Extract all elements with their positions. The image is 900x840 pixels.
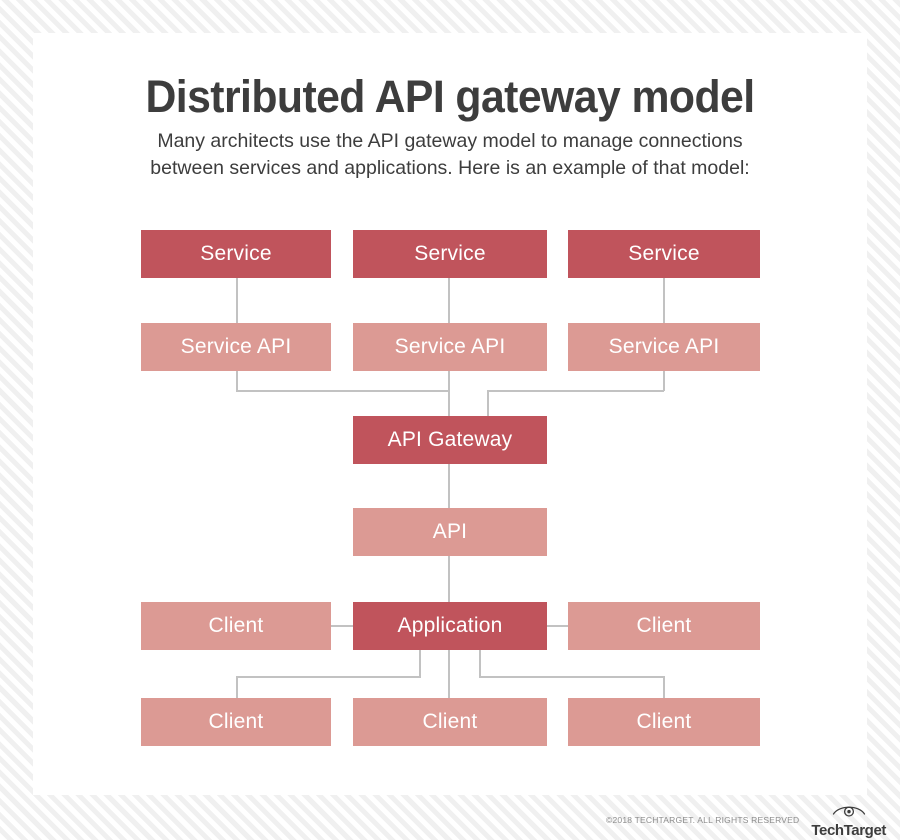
node-service-api-1[interactable]: Service API [141, 323, 331, 371]
connector-service-1-to-api [236, 278, 238, 323]
node-application[interactable]: Application [353, 602, 547, 650]
node-label: Service [414, 242, 485, 266]
node-label: Service [200, 242, 271, 266]
connector-api-left-drop [236, 371, 238, 391]
connector-application-to-client-left [331, 625, 353, 627]
node-service-2[interactable]: Service [353, 230, 547, 278]
connector-api-right-drop [663, 371, 665, 391]
node-label: Client [423, 710, 478, 734]
connector-bottom-right-run [479, 676, 664, 678]
node-api[interactable]: API [353, 508, 547, 556]
node-label: Service API [395, 335, 506, 359]
connector-bottom-left-stub [419, 650, 421, 677]
node-label: API Gateway [388, 428, 513, 452]
connector-bottom-right-stub [479, 650, 481, 677]
node-service-3[interactable]: Service [568, 230, 760, 278]
connector-bottom-right-drop [663, 676, 665, 698]
footer: ©2018 TECHTARGET. ALL RIGHTS RESERVED Te… [0, 800, 900, 840]
node-client-right[interactable]: Client [568, 602, 760, 650]
node-client-bottom-3[interactable]: Client [568, 698, 760, 746]
node-service-api-3[interactable]: Service API [568, 323, 760, 371]
logo-wordmark: TechTarget [811, 823, 886, 838]
node-label: Service API [181, 335, 292, 359]
connector-bottom-left-drop [236, 676, 238, 698]
techtarget-logo: TechTarget [811, 803, 886, 838]
node-label: Client [209, 710, 264, 734]
node-label: API [433, 520, 467, 544]
connector-api-right-run [487, 390, 664, 392]
connector-api-to-application [448, 556, 450, 602]
connector-gateway-to-api [448, 463, 450, 508]
content-card: Distributed API gateway model Many archi… [33, 33, 867, 795]
connector-api-left-run [236, 390, 449, 392]
node-label: Service [628, 242, 699, 266]
node-label: Client [637, 614, 692, 638]
connector-bracket-left-into-gateway [448, 390, 450, 416]
copyright-text: ©2018 TECHTARGET. ALL RIGHTS RESERVED [606, 815, 799, 825]
node-client-left[interactable]: Client [141, 602, 331, 650]
eye-icon [832, 803, 866, 822]
node-client-bottom-2[interactable]: Client [353, 698, 547, 746]
connector-api-right-into-gateway [487, 390, 489, 416]
connector-service-2-to-api [448, 278, 450, 323]
connector-service-3-to-api [663, 278, 665, 323]
api-gateway-diagram: Service Service Service Service API Serv… [33, 33, 867, 795]
node-service-api-2[interactable]: Service API [353, 323, 547, 371]
node-service-1[interactable]: Service [141, 230, 331, 278]
node-api-gateway[interactable]: API Gateway [353, 416, 547, 464]
node-label: Service API [609, 335, 720, 359]
node-label: Application [398, 614, 503, 638]
node-client-bottom-1[interactable]: Client [141, 698, 331, 746]
connector-bottom-left-run [236, 676, 421, 678]
connector-application-to-client-center [448, 650, 450, 698]
node-label: Client [209, 614, 264, 638]
connector-application-to-client-right [547, 625, 569, 627]
node-label: Client [637, 710, 692, 734]
